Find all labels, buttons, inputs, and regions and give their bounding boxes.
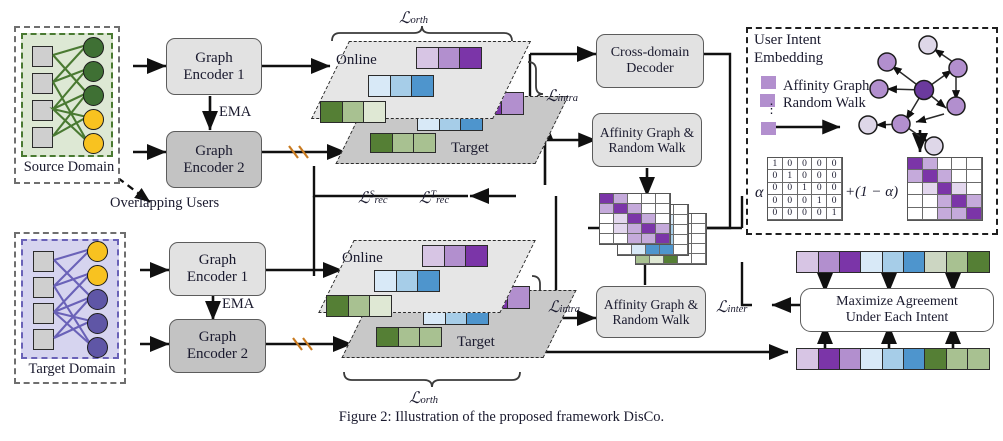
intent-affinity-matrix bbox=[908, 158, 982, 220]
loss-rec-target-sub: rec bbox=[436, 195, 449, 206]
loss-symbol: ℒ bbox=[546, 88, 558, 105]
random-walk-graph bbox=[846, 32, 1003, 142]
agreement-strip-blue-top bbox=[860, 251, 926, 273]
maximize-agreement-label: Maximize Agreement Under Each Intent bbox=[836, 294, 958, 325]
source-user-node-yellow bbox=[83, 133, 104, 154]
intent-embedding-dots: ⋮ bbox=[765, 106, 778, 111]
target-strip-blue-bottom bbox=[423, 312, 489, 325]
cross-domain-decoder-label: Cross-domain Decoder bbox=[611, 45, 690, 76]
framework-diagram: Source Domain Target Domain Overlapping … bbox=[0, 0, 1003, 441]
identity-matrix: 10000 01000 00100 00010 00001 bbox=[768, 158, 842, 220]
loss-inter: ℒinter bbox=[716, 297, 747, 317]
loss-orth-top: ℒorth bbox=[399, 8, 428, 28]
target-user-node-yellow bbox=[87, 241, 108, 262]
loss-orth-top-sub: orth bbox=[411, 15, 429, 26]
loss-intra-bottom: ℒintra bbox=[548, 297, 580, 317]
loss-orth-bottom: ℒorth bbox=[409, 388, 438, 408]
loss-rec-source-sub: rec bbox=[375, 195, 388, 206]
agreement-strip-green-bottom bbox=[924, 348, 990, 370]
target-plane-bottom-label: Target bbox=[457, 334, 495, 351]
maximize-agreement-box[interactable]: Maximize Agreement Under Each Intent bbox=[800, 288, 994, 332]
source-user-node-yellow bbox=[83, 109, 104, 130]
target-domain-label: Target Domain bbox=[16, 362, 128, 377]
target-domain-panel: Target Domain bbox=[14, 232, 126, 384]
target-user-node-purple bbox=[87, 337, 108, 358]
alpha-symbol: α bbox=[755, 184, 763, 202]
source-domain-label: Source Domain bbox=[16, 160, 122, 175]
source-user-node-green bbox=[83, 85, 104, 106]
ema-label-top: EMA bbox=[219, 104, 251, 121]
loss-intra-top: ℒintra bbox=[546, 86, 578, 106]
encoder-source-online[interactable]: Graph Encoder 1 bbox=[166, 38, 262, 95]
encoder-source-online-label: Graph Encoder 1 bbox=[183, 50, 244, 84]
agreement-strip-purple-bottom bbox=[796, 348, 862, 370]
agreement-strip-green-top bbox=[924, 251, 990, 273]
target-strip-green-bottom bbox=[376, 327, 442, 347]
affinity-random-walk-top-label: Affinity Graph & Random Walk bbox=[600, 125, 694, 155]
target-user-node-yellow bbox=[87, 265, 108, 286]
target-user-node-purple bbox=[87, 289, 108, 310]
loss-symbol: ℒ bbox=[358, 190, 370, 207]
online-plane-bottom-label: Online bbox=[342, 250, 383, 267]
encoder-target-online-label: Graph Encoder 1 bbox=[187, 252, 248, 286]
user-intent-embedding-title: User Intent Embedding bbox=[754, 32, 823, 67]
loss-inter-sub: inter bbox=[728, 304, 748, 315]
loss-symbol: ℒ bbox=[419, 190, 431, 207]
overlapping-users-label: Overlapping Users bbox=[110, 195, 219, 212]
affinity-random-walk-top[interactable]: Affinity Graph & Random Walk bbox=[592, 113, 702, 167]
loss-orth-bottom-sub: orth bbox=[421, 395, 439, 406]
encoder-target-online[interactable]: Graph Encoder 1 bbox=[169, 242, 266, 296]
target-plane-top-label: Target bbox=[451, 140, 489, 157]
source-user-node-green bbox=[83, 37, 104, 58]
online-strip-green-bottom bbox=[326, 295, 392, 317]
encoder-source-target[interactable]: Graph Encoder 2 bbox=[166, 131, 262, 188]
loss-symbol: ℒ bbox=[548, 299, 560, 316]
loss-symbol: ℒ bbox=[399, 10, 411, 27]
source-domain-graph bbox=[21, 33, 113, 157]
affinity-matrix-purple bbox=[600, 194, 670, 244]
cross-domain-decoder[interactable]: Cross-domain Decoder bbox=[596, 34, 704, 88]
loss-rec-source: ℒSrec bbox=[358, 188, 388, 208]
loss-symbol: ℒ bbox=[716, 299, 728, 316]
affinity-random-walk-bottom[interactable]: Affinity Graph & Random Walk bbox=[596, 286, 706, 338]
online-strip-blue-top bbox=[368, 75, 434, 97]
source-domain-panel: Source Domain bbox=[14, 26, 120, 184]
source-user-node-green bbox=[83, 61, 104, 82]
online-strip-green-top bbox=[320, 101, 386, 123]
agreement-strip-blue-bottom bbox=[860, 348, 926, 370]
loss-rec-target: ℒTrec bbox=[419, 188, 449, 208]
figure-caption: Figure 2: Illustration of the proposed f… bbox=[0, 409, 1003, 426]
loss-intra-top-sub: intra bbox=[558, 93, 578, 104]
online-plane-top-label: Online bbox=[336, 52, 377, 69]
encoder-source-target-label: Graph Encoder 2 bbox=[183, 143, 244, 177]
online-strip-blue-bottom bbox=[374, 270, 440, 292]
target-domain-graph bbox=[21, 239, 119, 359]
encoder-target-target[interactable]: Graph Encoder 2 bbox=[169, 319, 266, 373]
target-user-node-purple bbox=[87, 313, 108, 334]
intent-embedding-square-last bbox=[761, 122, 776, 135]
agreement-strip-purple-top bbox=[796, 251, 862, 273]
online-strip-purple-bottom bbox=[422, 245, 488, 267]
online-strip-purple-top bbox=[416, 47, 482, 69]
ema-label-bottom: EMA bbox=[222, 296, 254, 313]
encoder-target-target-label: Graph Encoder 2 bbox=[187, 329, 248, 363]
alpha-complement-term: +(1 − α) bbox=[845, 184, 898, 201]
target-strip-green-top bbox=[370, 133, 436, 153]
loss-intra-bottom-sub: intra bbox=[560, 304, 580, 315]
target-strip-blue-top bbox=[417, 118, 483, 131]
affinity-random-walk-bottom-label: Affinity Graph & Random Walk bbox=[604, 297, 698, 327]
loss-symbol: ℒ bbox=[409, 390, 421, 407]
